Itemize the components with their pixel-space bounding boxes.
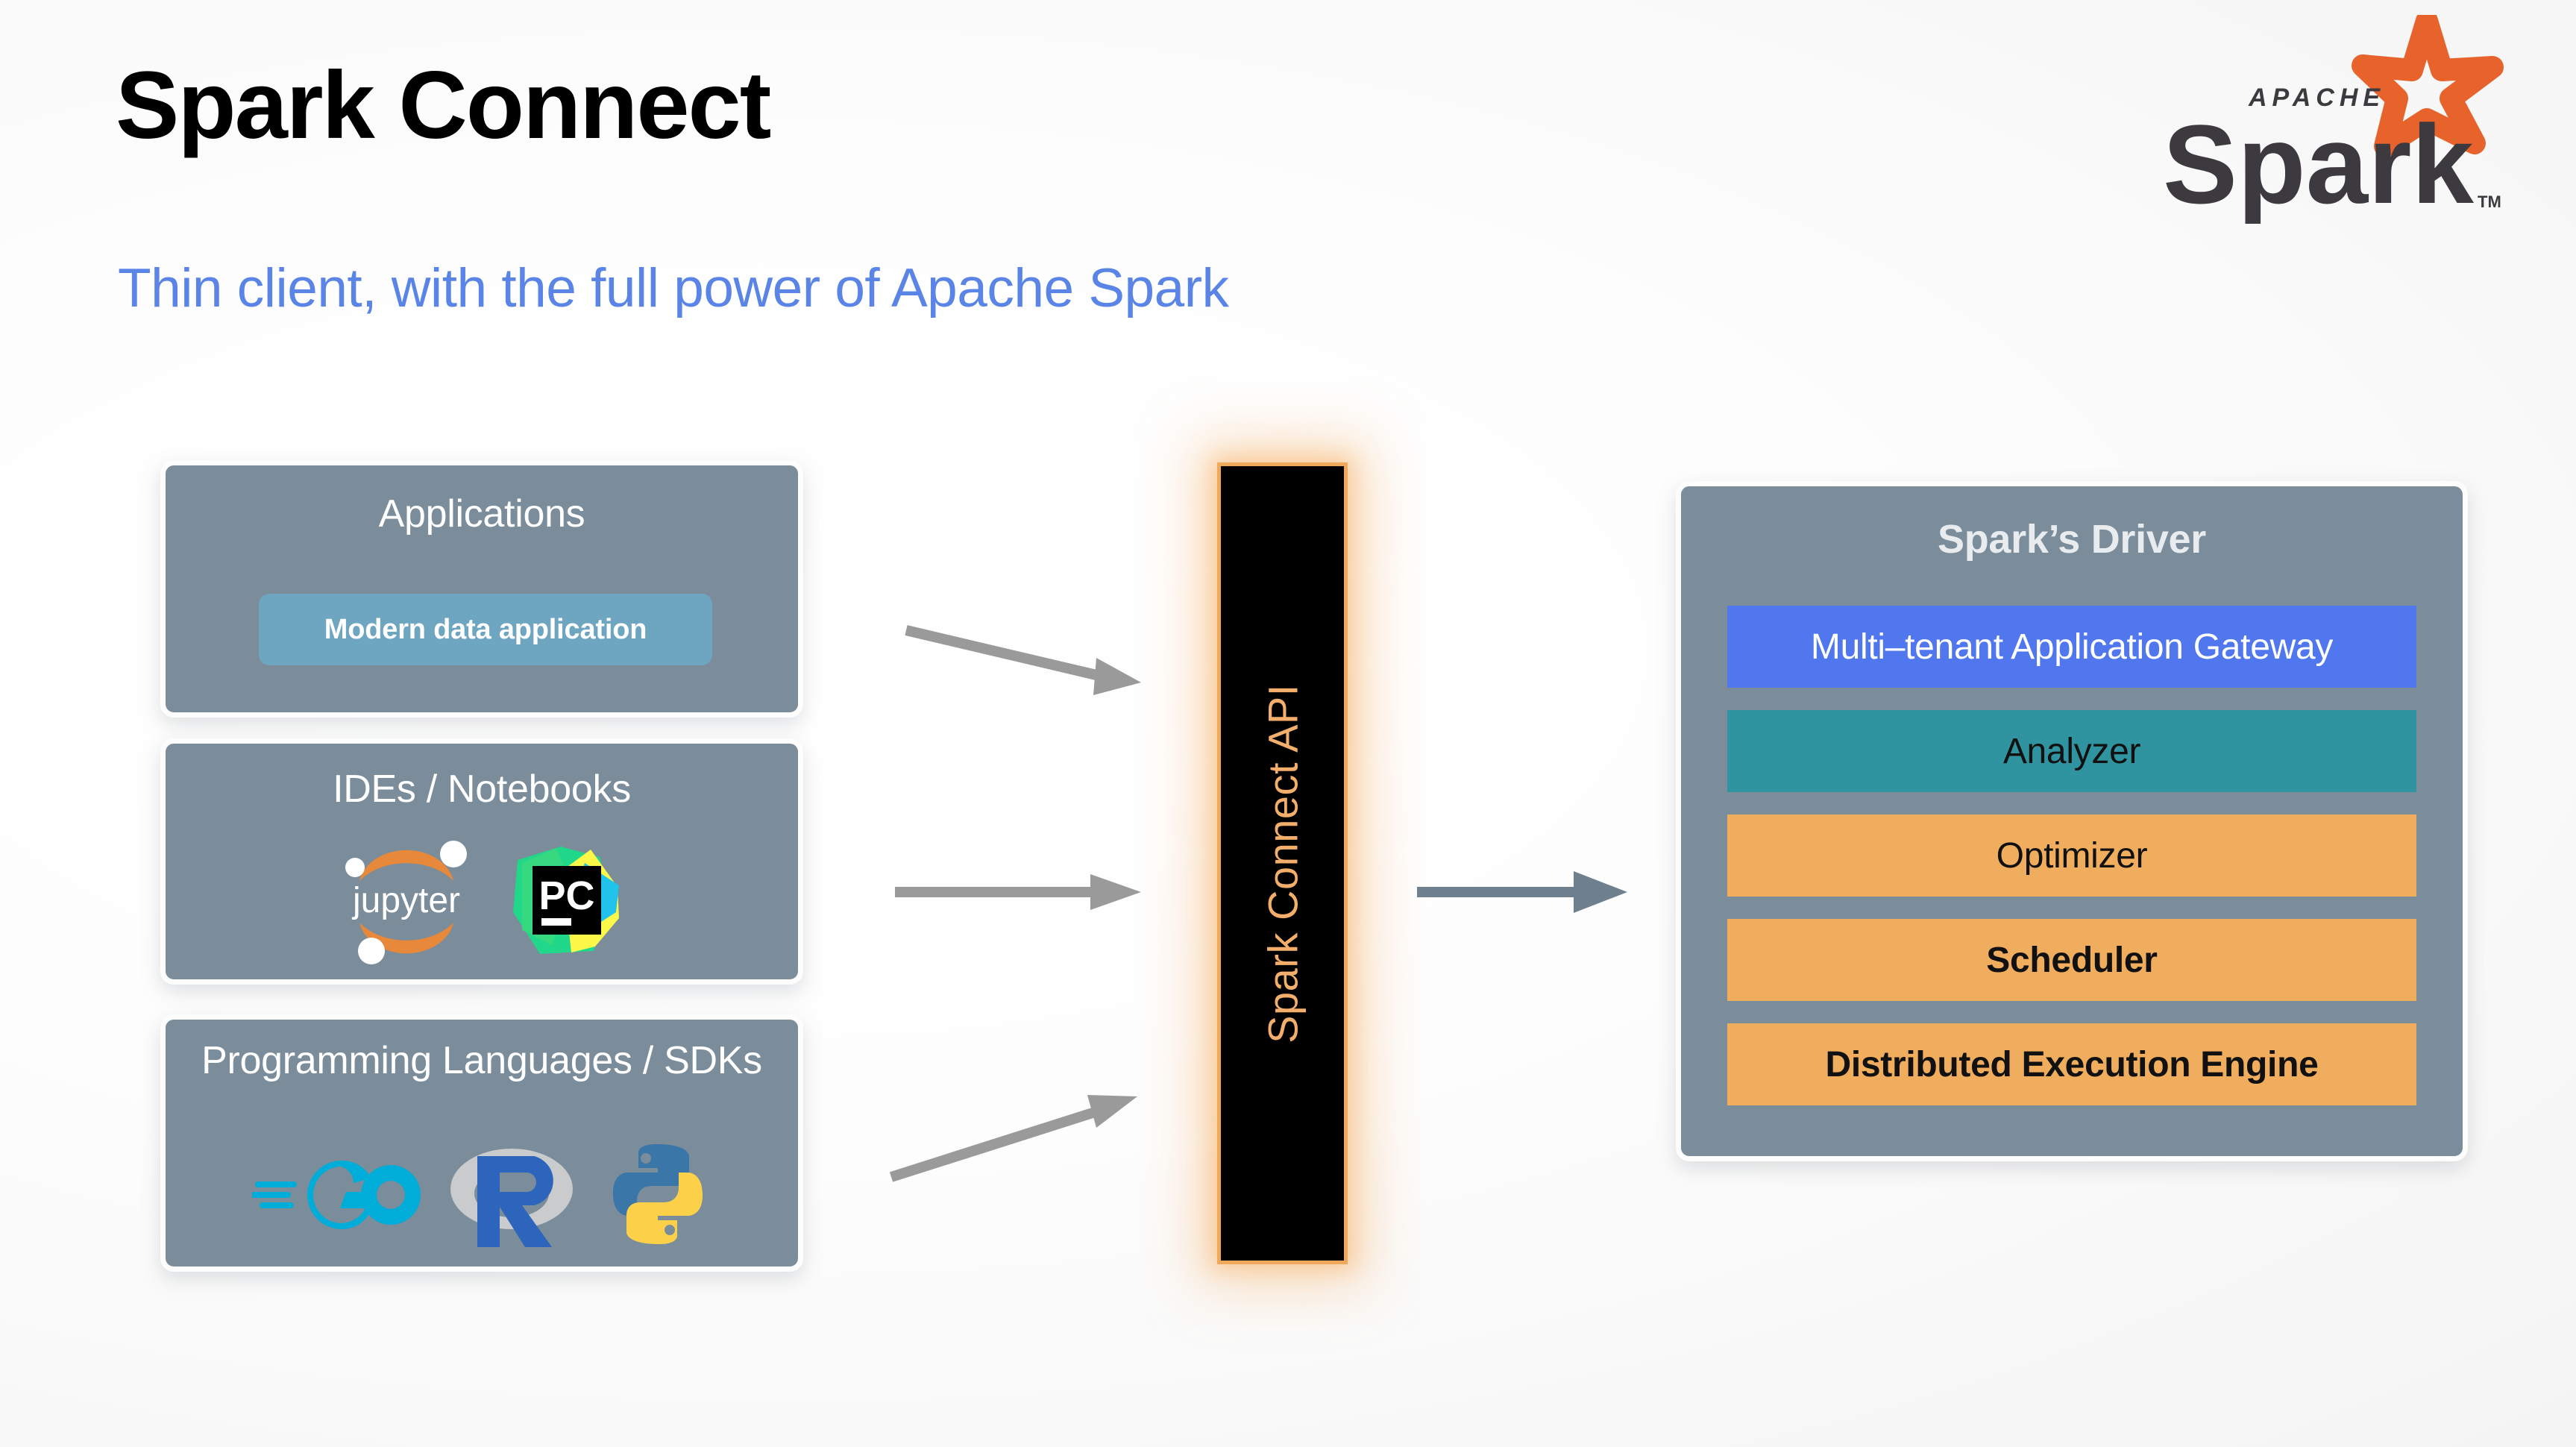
go-logo — [252, 1146, 424, 1243]
python-logo — [604, 1138, 712, 1250]
panel-applications[interactable]: Applications Modern data application — [160, 460, 803, 718]
panel-languages-title: Programming Languages / SDKs — [166, 1039, 798, 1084]
logo-trademark-text: TM — [2478, 192, 2501, 211]
jupyter-logo-text: jupyter — [351, 881, 460, 920]
driver-row-gateway[interactable]: Multi–tenant Application Gateway — [1727, 606, 2416, 688]
driver-row-execution-engine[interactable]: Distributed Execution Engine — [1727, 1023, 2416, 1105]
pycharm-logo-text: PC — [538, 873, 594, 918]
pycharm-logo: PC — [507, 841, 626, 960]
panel-ides-title: IDEs / Notebooks — [166, 768, 798, 812]
arrow-ides-to-api — [895, 874, 1141, 910]
driver-row-analyzer-label: Analyzer — [2003, 731, 2140, 772]
spark-connect-api-bar[interactable]: Spark Connect API — [1217, 462, 1348, 1264]
spark-connect-api-label: Spark Connect API — [1258, 684, 1307, 1043]
panel-applications-title: Applications — [166, 492, 798, 537]
apache-spark-logo: APACHE Spark TM — [2149, 15, 2522, 224]
panel-driver-title: Spark’s Driver — [1681, 516, 2463, 562]
driver-row-optimizer-label: Optimizer — [1997, 835, 2148, 876]
driver-row-scheduler-label: Scheduler — [1986, 940, 2157, 981]
page-subtitle: Thin client, with the full power of Apac… — [118, 261, 1229, 316]
modern-data-application-label: Modern data application — [324, 614, 647, 646]
arrow-api-to-driver — [1417, 871, 1627, 913]
arrow-applications-to-api — [906, 630, 1141, 695]
r-logo — [443, 1138, 585, 1250]
arrow-languages-to-api — [891, 1095, 1137, 1177]
panel-ides-notebooks[interactable]: IDEs / Notebooks jupyter PC — [160, 738, 803, 985]
ides-logo-row: jupyter PC — [166, 835, 798, 966]
modern-data-application-card[interactable]: Modern data application — [259, 594, 712, 665]
driver-row-analyzer[interactable]: Analyzer — [1727, 710, 2416, 792]
languages-logo-row — [166, 1138, 798, 1250]
driver-row-optimizer[interactable]: Optimizer — [1727, 814, 2416, 897]
logo-wordmark-text: Spark — [2163, 101, 2474, 224]
jupyter-logo: jupyter — [337, 835, 476, 966]
driver-row-execution-engine-label: Distributed Execution Engine — [1826, 1044, 2319, 1085]
panel-sparks-driver[interactable]: Spark’s Driver Multi–tenant Application … — [1676, 481, 2468, 1161]
driver-row-gateway-label: Multi–tenant Application Gateway — [1811, 627, 2333, 668]
slide-canvas: Spark Connect Thin client, with the full… — [0, 0, 2576, 1447]
panel-programming-languages[interactable]: Programming Languages / SDKs — [160, 1014, 803, 1272]
page-title: Spark Connect — [116, 58, 770, 154]
driver-row-scheduler[interactable]: Scheduler — [1727, 919, 2416, 1001]
driver-component-stack: Multi–tenant Application Gateway Analyze… — [1727, 606, 2416, 1105]
